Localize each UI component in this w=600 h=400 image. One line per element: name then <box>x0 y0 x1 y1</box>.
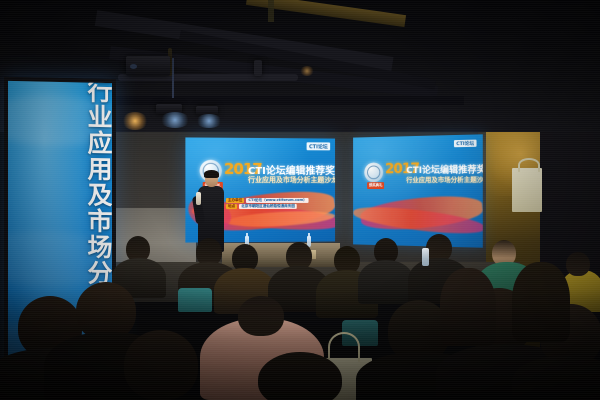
slide-subtitle: 行业应用及市场分析主题沙龙 <box>406 174 483 184</box>
warm-downlight-right <box>300 66 314 76</box>
cool-spotlight-glow-2 <box>196 114 222 128</box>
ceiling-beam-vertical <box>268 0 274 22</box>
slide-info-row: 主办单位 CTI论坛（www.ctiforum.com） <box>226 198 309 203</box>
tote-bag-handle <box>328 332 360 362</box>
water-bottle <box>422 248 429 266</box>
tote-bag-handle <box>518 158 540 172</box>
slide-emblem-icon <box>364 162 383 182</box>
handheld-microphone <box>196 192 201 205</box>
ceiling-light-fixture-3 <box>254 60 262 76</box>
warm-spotlight-glow-2 <box>122 112 148 130</box>
slide-info-key: 地点 <box>226 204 237 209</box>
presenter-hair <box>204 170 219 178</box>
audience-chair <box>178 288 212 312</box>
ceiling-cable <box>172 58 174 98</box>
audience-head-front <box>258 352 342 400</box>
projector-lens <box>130 64 137 69</box>
cool-spotlight-glow <box>160 112 190 128</box>
audience-long-hair <box>440 268 496 346</box>
slide-info-value: CTI论坛（www.ctiforum.com） <box>246 198 308 203</box>
slide-info-block: 主办单位 CTI论坛（www.ctiforum.com） 地点 北京市朝阳区酒仙… <box>226 198 309 209</box>
slide-info-value: 北京市朝阳区酒仙桥路恒通商务园 <box>239 204 297 209</box>
audience-long-hair <box>512 262 570 342</box>
slide-subtitle: 行业应用及市场分析主题沙龙 <box>248 175 335 185</box>
slide-info-key: 主办单位 <box>226 198 244 203</box>
audience-head-front <box>124 330 198 400</box>
slide-logo: CTI论坛 <box>454 140 477 148</box>
audience-head <box>566 252 590 276</box>
slide-logo: CTI论坛 <box>307 142 331 150</box>
side-projection-screen: 2017 CTI论坛编辑推荐奖 颁奖典礼 行业应用及市场分析主题沙龙 CTI论坛 <box>353 134 483 247</box>
audience-shoulders <box>358 260 414 304</box>
slide-tag: 颁奖典礼 <box>367 182 384 189</box>
slide-info-row: 地点 北京市朝阳区酒仙桥路恒通商务园 <box>226 204 309 209</box>
audience-head <box>238 296 284 336</box>
white-tote-bag <box>512 168 542 212</box>
conference-hall-photo: 2017 CTI论坛编辑推荐奖 颁奖典礼 行业应用及市场分析主题沙龙 主办单位 … <box>0 0 600 400</box>
